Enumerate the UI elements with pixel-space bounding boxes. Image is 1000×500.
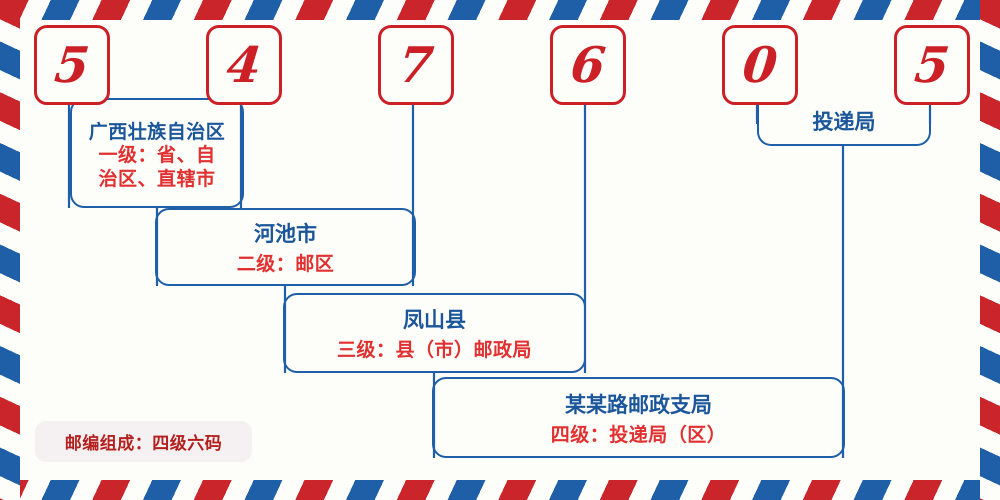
level-3-box: 凤山县 三级：县（市）邮政局 xyxy=(283,293,586,373)
airmail-border-top xyxy=(0,0,1000,20)
level-1-subtitle-line-2: 治区、直辖市 xyxy=(98,168,215,191)
postcode-digit-6[interactable]: 5 xyxy=(894,25,970,105)
postcode-infographic: 5 4 7 6 0 5 广西壮族自治区 一级：省、自 治区、直辖市 河池市 二级… xyxy=(0,0,1000,500)
level-2-title: 河池市 xyxy=(254,218,317,248)
level-2-box: 河池市 二级：邮区 xyxy=(155,208,416,286)
delivery-office-bracket: 投递局 xyxy=(757,98,931,146)
delivery-office-label: 投递局 xyxy=(813,106,876,136)
level-4-box: 某某路邮政支局 四级：投递局（区） xyxy=(432,377,845,458)
legend-badge: 邮编组成：四级六码 xyxy=(35,421,252,462)
level-1-title: 广西壮族自治区 xyxy=(89,117,226,144)
airmail-border-left xyxy=(0,0,20,500)
postcode-digit-4[interactable]: 6 xyxy=(550,25,626,105)
postcode-digit-3[interactable]: 7 xyxy=(378,25,454,105)
digit-glyph: 6 xyxy=(568,41,607,90)
digit-glyph: 5 xyxy=(912,41,951,90)
level-1-subtitle-line-1: 一级：省、自 xyxy=(98,144,215,167)
level-4-subtitle: 四级：投递局（区） xyxy=(551,420,727,447)
digit-glyph: 5 xyxy=(52,41,91,90)
digit-glyph: 0 xyxy=(740,41,779,90)
level-2-subtitle: 二级：邮区 xyxy=(237,249,335,276)
postcode-digit-5[interactable]: 0 xyxy=(722,25,798,105)
airmail-border-bottom xyxy=(0,480,1000,500)
postcode-digit-2[interactable]: 4 xyxy=(206,25,282,105)
airmail-border-right xyxy=(980,0,1000,500)
level-4-title: 某某路邮政支局 xyxy=(565,389,712,419)
legend-text: 邮编组成：四级六码 xyxy=(65,429,223,454)
digit-glyph: 4 xyxy=(224,41,263,90)
level-3-title: 凤山县 xyxy=(403,304,466,334)
level-3-subtitle: 三级：县（市）邮政局 xyxy=(337,335,532,362)
digit-glyph: 7 xyxy=(396,41,435,90)
postcode-digit-1[interactable]: 5 xyxy=(34,25,110,105)
level-1-subtitle: 一级：省、自 治区、直辖市 xyxy=(98,144,215,190)
level-1-box: 广西壮族自治区 一级：省、自 治区、直辖市 xyxy=(70,98,244,208)
